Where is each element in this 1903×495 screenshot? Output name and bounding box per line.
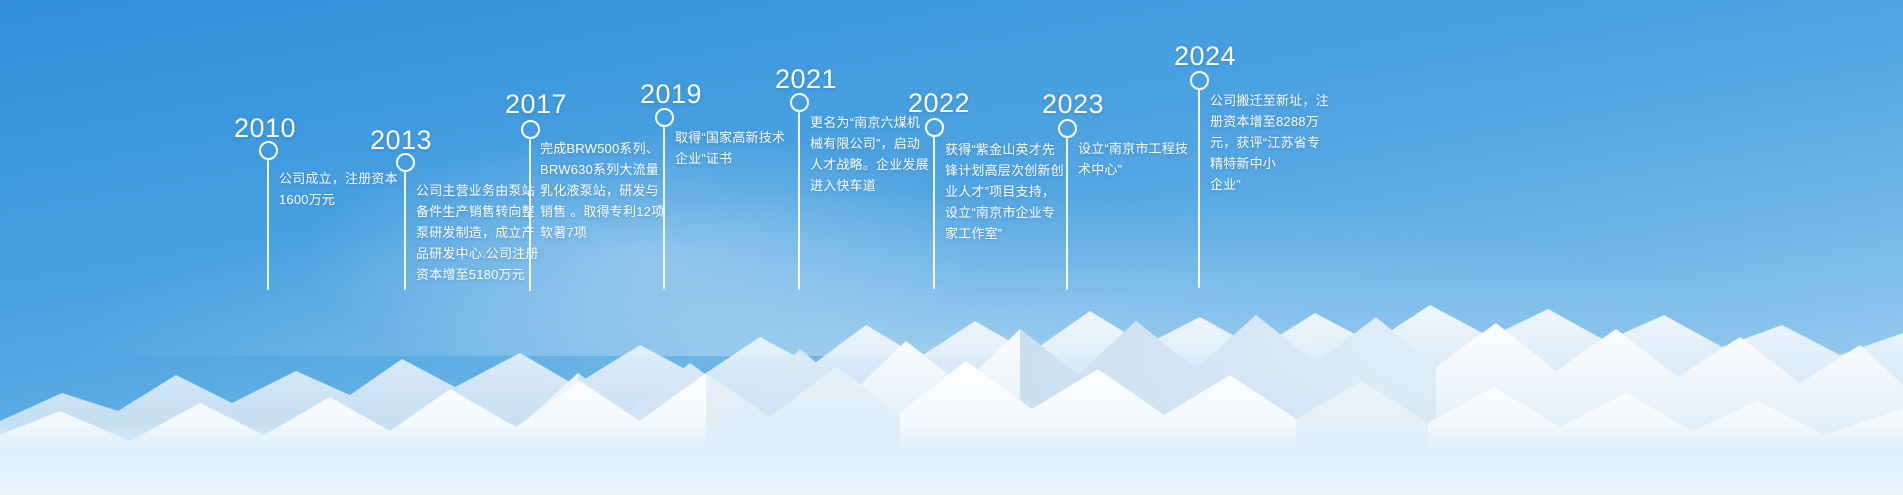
company-history-timeline: 2010 公司成立，注册资本 1600万元 2013 公司主营业务由泵站 备件生…	[0, 0, 1903, 495]
timeline-dot-2022[interactable]	[925, 118, 944, 137]
timeline-dot-2013[interactable]	[396, 153, 415, 172]
timeline-year-2021: 2021	[775, 64, 837, 95]
timeline-description-2024: 公司搬迁至新址，注 册资本增至8288万 元，获评“江苏省专 精特新中小 企业”	[1210, 90, 1360, 195]
timeline-dot-2021[interactable]	[790, 93, 809, 112]
timeline-dot-2010[interactable]	[259, 141, 278, 160]
timeline-dot-2019[interactable]	[655, 108, 674, 127]
timeline-dot-2023[interactable]	[1058, 119, 1077, 138]
timeline-dot-2017[interactable]	[521, 120, 540, 139]
timeline-description-2022: 获得“紫金山英才先 锋计划高层次创新创 业人才”项目支持， 设立“南京市企业专 …	[945, 139, 1090, 244]
timeline-year-2013: 2013	[370, 125, 432, 156]
timeline-stem-2023	[1066, 138, 1068, 290]
timeline-description-2017: 完成BRW500系列、 BRW630系列大流量 乳化液泵站，研发与 销售 。取得…	[540, 138, 690, 243]
timeline-year-2022: 2022	[908, 88, 970, 119]
timeline-stem-2017	[529, 139, 531, 291]
timeline-stem-2019	[663, 127, 665, 289]
timeline-description-2019: 取得“国家高新技术 企业”证书	[675, 127, 815, 169]
timeline-dot-2024[interactable]	[1190, 71, 1209, 90]
timeline-year-2010: 2010	[234, 113, 296, 144]
timeline-year-2017: 2017	[505, 89, 567, 120]
timeline-stem-2024	[1198, 90, 1200, 288]
timeline-stem-2022	[933, 137, 935, 289]
timeline-year-2023: 2023	[1042, 89, 1104, 120]
timeline-description-2010: 公司成立，注册资本 1600万元	[279, 168, 429, 210]
timeline-stem-2021	[798, 112, 800, 290]
timeline-description-2023: 设立“南京市工程技 术中心”	[1078, 138, 1223, 180]
timeline-year-2019: 2019	[640, 79, 702, 110]
timeline-stem-2013	[404, 172, 406, 290]
timeline-stem-2010	[267, 160, 269, 290]
timeline-description-2013: 公司主营业务由泵站 备件生产销售转向整 泵研发制造，成立产 品研发中心.公司注册…	[416, 180, 556, 285]
timeline-year-2024: 2024	[1174, 41, 1236, 72]
